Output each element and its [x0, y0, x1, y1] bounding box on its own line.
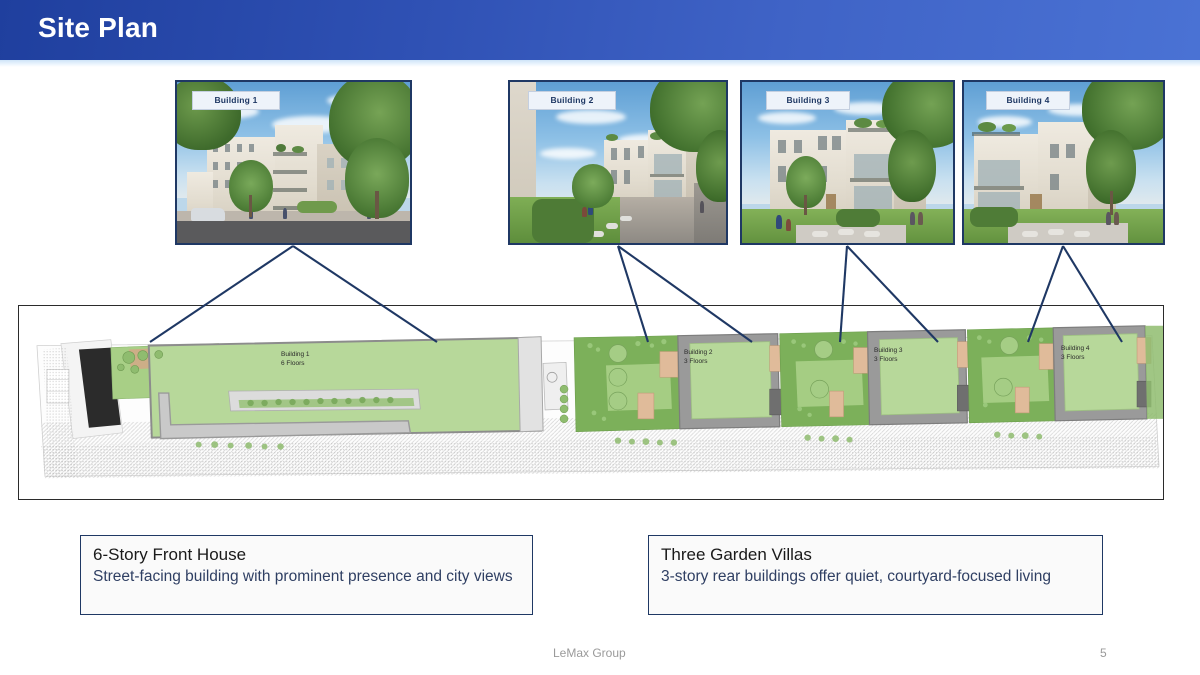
window [611, 148, 617, 160]
callout-garden-villas[interactable]: Three Garden Villas 3-story rear buildin… [648, 535, 1103, 615]
stepping-stone [1048, 229, 1064, 235]
callout-front-house-body: Street-facing building with prominent pr… [93, 567, 520, 588]
window [818, 136, 827, 150]
site-plan-drawing [19, 306, 1163, 499]
cloud [540, 148, 596, 159]
person [910, 212, 915, 225]
balcony [972, 132, 1020, 136]
callout-front-house[interactable]: 6-Story Front House Street-facing buildi… [80, 535, 533, 615]
person [283, 208, 287, 219]
roof-planting [1002, 124, 1016, 132]
photo-label-building-1: Building 1 [192, 91, 280, 110]
street [177, 221, 410, 243]
window [1066, 144, 1075, 158]
roof-planting [978, 122, 996, 132]
window [249, 144, 254, 152]
window [978, 160, 1020, 186]
footer-company: LeMax Group [553, 646, 626, 660]
planting-bed [836, 209, 880, 227]
person [786, 219, 791, 231]
person [776, 215, 782, 229]
window [832, 136, 841, 150]
car [191, 208, 225, 221]
planting-bed [970, 207, 1018, 227]
photo-card-building-4[interactable]: Building 4 [962, 80, 1165, 245]
plan-label-building-3: Building 33 Floors [874, 346, 903, 365]
tree-trunk [1110, 191, 1113, 215]
person [1114, 212, 1119, 225]
roof-planting [854, 118, 872, 128]
window [225, 162, 230, 170]
balcony [974, 186, 1024, 190]
callout-garden-villas-body: 3-story rear buildings offer quiet, cour… [661, 567, 1090, 588]
window [225, 144, 230, 152]
stepping-stone [606, 223, 618, 229]
tree [888, 130, 936, 202]
page-title: Site Plan [38, 12, 158, 44]
window [778, 166, 786, 182]
window [1050, 174, 1059, 190]
window [1050, 144, 1059, 158]
roof-planting [606, 134, 618, 141]
tree-trunk [249, 195, 252, 217]
person [918, 212, 923, 225]
banner-underline [0, 60, 1200, 67]
stepping-stone [1022, 231, 1038, 237]
person [582, 207, 587, 217]
window [654, 154, 682, 174]
tree [572, 164, 614, 208]
photo-card-building-1[interactable]: Building 1 [175, 80, 412, 245]
plan-label-building-1: Building 16 Floors [281, 350, 310, 369]
callout-garden-villas-title: Three Garden Villas [661, 544, 1090, 567]
plan-label-building-2: Building 23 Floors [684, 348, 713, 367]
stepping-stone [838, 229, 854, 235]
window [327, 180, 334, 190]
cloud [758, 112, 816, 124]
planting [297, 201, 337, 213]
window [794, 140, 802, 153]
tree-trunk [375, 191, 379, 219]
window [624, 148, 630, 160]
photo-card-building-2[interactable]: Building 2 [508, 80, 728, 245]
window [778, 140, 786, 153]
stepping-stone [1074, 231, 1090, 237]
title-banner [0, 0, 1200, 60]
stepping-stone [864, 231, 880, 237]
window [213, 180, 218, 188]
site-plan-diagram[interactable]: Building 16 Floors Building 23 Floors Bu… [18, 305, 1164, 500]
roof-planting [276, 144, 286, 152]
balcony [273, 170, 307, 174]
roof-planting [292, 146, 304, 153]
plan-label-building-4: Building 43 Floors [1061, 344, 1090, 363]
balcony [273, 188, 307, 192]
callout-front-house-title: 6-Story Front House [93, 544, 520, 567]
tree-trunk [804, 195, 807, 215]
balcony [273, 152, 307, 156]
photo-card-building-3[interactable]: Building 3 [740, 80, 955, 245]
person [700, 201, 704, 213]
window [237, 144, 242, 152]
photo-label-building-2: Building 2 [528, 91, 616, 110]
stepping-stone [812, 231, 828, 237]
window [638, 146, 644, 158]
window [213, 162, 218, 170]
stepping-stone [620, 216, 632, 221]
photo-label-building-3: Building 3 [766, 91, 850, 110]
window [854, 154, 892, 178]
cloud [556, 110, 626, 124]
page-number: 5 [1100, 646, 1107, 660]
window [624, 170, 630, 184]
photo-label-building-4: Building 4 [986, 91, 1070, 110]
slide: Site Plan [0, 0, 1200, 675]
balcony [650, 174, 684, 177]
window [327, 158, 334, 168]
